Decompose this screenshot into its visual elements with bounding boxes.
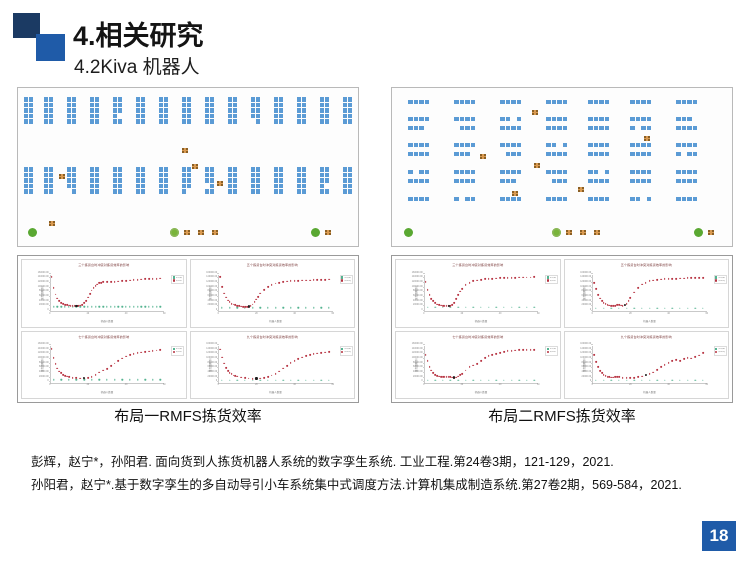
- legend-swatch: [715, 279, 717, 281]
- legend-swatch: [173, 351, 175, 353]
- data-point: [698, 277, 700, 279]
- storage-pod: [605, 179, 610, 183]
- data-point: [83, 306, 84, 307]
- data-point: [695, 379, 696, 380]
- storage-pod: [187, 178, 191, 183]
- data-point: [114, 306, 115, 307]
- storage-pod: [118, 184, 122, 189]
- storage-pod: [641, 170, 646, 174]
- data-point: [271, 284, 273, 286]
- storage-pod: [506, 197, 511, 201]
- reference-list: 彭辉，赵宁*，孙阳君. 面向货到人拣货机器人系统的数字孪生系统. 工业工程.第2…: [31, 452, 721, 497]
- storage-pod: [693, 152, 698, 156]
- data-point: [225, 297, 227, 299]
- storage-pod: [159, 119, 163, 124]
- data-point: [324, 279, 326, 281]
- legend-swatch: [173, 348, 175, 350]
- data-point: [321, 307, 322, 308]
- y-axis-label: 拣货周期(秒): [414, 358, 418, 372]
- storage-pod: [419, 126, 424, 130]
- storage-pod: [500, 126, 505, 130]
- robot-agent: [192, 164, 198, 169]
- storage-pod: [563, 170, 568, 174]
- storage-pod: [454, 179, 459, 183]
- storage-pod: [599, 143, 604, 147]
- storage-pod: [517, 170, 522, 174]
- x-axis-label: 机器人数量: [50, 319, 164, 323]
- storage-pod: [29, 167, 33, 172]
- storage-pod: [605, 126, 610, 130]
- storage-pod: [95, 184, 99, 189]
- storage-pod: [605, 197, 610, 201]
- data-point: [534, 379, 535, 380]
- page-title: 4.相关研究: [73, 14, 204, 53]
- data-point: [121, 357, 123, 359]
- data-point: [515, 277, 517, 279]
- data-point: [298, 307, 299, 308]
- storage-pod: [641, 126, 646, 130]
- storage-pod: [44, 119, 48, 124]
- storage-pod: [24, 167, 28, 172]
- data-point: [282, 307, 283, 308]
- data-point: [137, 279, 139, 281]
- data-point: [484, 357, 486, 359]
- data-point: [599, 298, 601, 300]
- storage-pod: [605, 143, 610, 147]
- storage-pod: [687, 179, 692, 183]
- x-axis-tick: 0: [423, 313, 424, 315]
- storage-pod: [693, 100, 698, 104]
- storage-pod: [676, 152, 681, 156]
- x-axis-tick: 20: [461, 313, 464, 315]
- storage-pod: [90, 189, 94, 194]
- storage-pod: [563, 100, 568, 104]
- storage-pod: [29, 178, 33, 183]
- storage-pod: [256, 173, 260, 178]
- data-point: [534, 349, 536, 351]
- chart-cell: 九个拣货台时冲突对拣货效率的影响020000.0040000.0060000.0…: [190, 331, 356, 400]
- storage-pod: [425, 117, 430, 121]
- storage-pod: [636, 152, 641, 156]
- storage-pod: [95, 114, 99, 119]
- storage-pod: [67, 114, 71, 119]
- data-point: [53, 379, 54, 380]
- data-point: [679, 360, 681, 362]
- storage-pod: [159, 108, 163, 113]
- data-point: [237, 379, 238, 380]
- data-point: [309, 279, 311, 281]
- storage-pod: [251, 103, 255, 108]
- data-point: [488, 379, 489, 380]
- storage-pod: [251, 178, 255, 183]
- data-point: [457, 307, 458, 308]
- storage-pod: [636, 179, 641, 183]
- x-axis-tick: 60: [705, 313, 708, 315]
- storage-pod: [210, 167, 214, 172]
- storage-pod: [113, 114, 117, 119]
- storage-pod: [67, 173, 71, 178]
- y-axis-tick: 120000.00: [38, 281, 49, 283]
- storage-pod: [599, 197, 604, 201]
- storage-pod: [136, 108, 140, 113]
- chart-legend: 无冲突理论值实际仿真值: [714, 346, 727, 356]
- robot-agent: [217, 181, 223, 186]
- y-axis-tick: 140000.00: [38, 276, 49, 278]
- storage-pod: [676, 179, 681, 183]
- y-axis-tick: 20000.00: [413, 304, 423, 306]
- storage-pod: [182, 114, 186, 119]
- chart-title: 五个拣货台时冲突对拣货效率的影响: [565, 262, 729, 267]
- storage-pod: [320, 189, 324, 194]
- storage-pod: [118, 119, 122, 124]
- storage-pod: [228, 108, 232, 113]
- data-point: [656, 279, 658, 281]
- storage-pod: [693, 197, 698, 201]
- storage-pod: [414, 100, 419, 104]
- y-axis: [218, 275, 219, 312]
- data-point: [221, 286, 223, 288]
- storage-pod: [348, 119, 352, 124]
- storage-pod: [274, 178, 278, 183]
- data-point: [99, 371, 101, 373]
- storage-pod: [302, 108, 306, 113]
- legend-swatch: [341, 351, 343, 353]
- data-point: [137, 306, 138, 307]
- data-point: [106, 368, 108, 370]
- storage-pod: [297, 103, 301, 108]
- x-axis-label: 机器人数量: [592, 390, 706, 394]
- storage-pod: [563, 143, 568, 147]
- data-point: [618, 379, 619, 380]
- chart-legend: 无冲突理论值实际仿真值: [340, 275, 353, 285]
- storage-pod: [676, 143, 681, 147]
- storage-pod: [500, 170, 505, 174]
- storage-pod: [348, 173, 352, 178]
- data-point: [290, 379, 291, 380]
- storage-pod: [228, 167, 232, 172]
- storage-pod: [557, 170, 562, 174]
- storage-pod: [419, 143, 424, 147]
- storage-pod: [164, 114, 168, 119]
- data-point: [425, 354, 427, 356]
- y-axis-tick: 20000.00: [413, 376, 423, 378]
- data-point: [252, 307, 253, 308]
- storage-pod: [647, 197, 652, 201]
- storage-pod: [320, 184, 324, 189]
- data-point: [473, 379, 474, 380]
- data-point: [229, 379, 230, 380]
- data-point: [695, 307, 696, 308]
- data-point: [515, 349, 517, 351]
- data-point: [102, 370, 104, 372]
- data-point: [114, 363, 116, 365]
- storage-pod: [274, 108, 278, 113]
- data-point: [622, 377, 624, 379]
- storage-pod: [641, 117, 646, 121]
- storage-pod: [159, 167, 163, 172]
- data-point: [313, 307, 314, 308]
- storage-pod: [113, 108, 117, 113]
- storage-pod: [605, 100, 610, 104]
- data-point: [435, 379, 436, 380]
- storage-pod: [141, 178, 145, 183]
- storage-pod: [67, 119, 71, 124]
- chart-title: 三个拣货台时冲突对拣货效率的影响: [396, 262, 560, 267]
- storage-pod: [49, 184, 53, 189]
- data-point: [278, 282, 280, 284]
- data-point: [99, 306, 100, 307]
- x-axis-tick: 60: [331, 313, 334, 315]
- data-point: [431, 370, 433, 372]
- storage-pod: [279, 178, 283, 183]
- data-point: [259, 377, 261, 379]
- data-point: [427, 379, 428, 380]
- data-point: [137, 352, 139, 354]
- data-point: [595, 379, 596, 380]
- storage-pod: [95, 103, 99, 108]
- y-axis-tick: 160000.00: [38, 343, 49, 345]
- data-point: [286, 365, 288, 367]
- data-point: [637, 376, 639, 378]
- data-point: [298, 280, 300, 282]
- y-axis-tick: 20000.00: [39, 304, 49, 306]
- storage-pod: [90, 114, 94, 119]
- data-point: [626, 377, 628, 379]
- storage-pod: [414, 152, 419, 156]
- storage-pod: [647, 152, 652, 156]
- data-point: [452, 304, 454, 306]
- chart-plot-area: 020000.0040000.0060000.0080000.00100000.…: [218, 346, 332, 383]
- data-point: [129, 379, 130, 380]
- storage-pod: [687, 126, 692, 130]
- storage-pod: [325, 178, 329, 183]
- data-point: [633, 291, 635, 293]
- x-axis-tick: 60: [537, 313, 540, 315]
- storage-pod: [274, 103, 278, 108]
- data-point: [282, 368, 284, 370]
- storage-pod: [563, 117, 568, 121]
- storage-pod: [297, 178, 301, 183]
- data-point: [91, 379, 92, 380]
- x-axis-tick: 0: [592, 384, 593, 386]
- reference-item: 彭辉，赵宁*，孙阳君. 面向货到人拣货机器人系统的数字孪生系统. 工业工程.第2…: [31, 452, 721, 473]
- storage-pod: [251, 184, 255, 189]
- data-point: [254, 301, 256, 303]
- caption-layout-2: 布局二RMFS拣货效率: [391, 407, 733, 427]
- data-point: [511, 277, 513, 279]
- x-axis-tick: 20: [629, 384, 632, 386]
- storage-pod: [419, 152, 424, 156]
- storage-pod: [343, 97, 347, 102]
- storage-pod: [182, 173, 186, 178]
- storage-pod: [95, 178, 99, 183]
- storage-pod: [205, 103, 209, 108]
- storage-pod: [67, 178, 71, 183]
- y-axis-tick: 0: [216, 309, 217, 311]
- storage-pod: [687, 143, 692, 147]
- storage-pod: [29, 184, 33, 189]
- y-axis-label: 拣货周期(秒): [40, 286, 44, 300]
- data-point: [260, 379, 261, 380]
- x-axis: [424, 383, 538, 384]
- storage-pod: [210, 178, 214, 183]
- data-point: [229, 307, 230, 308]
- robot-agent: [512, 191, 518, 196]
- data-point: [286, 281, 288, 283]
- data-point: [125, 280, 127, 282]
- chart-cell: 三个拣货台时冲突对拣货效率的影响020000.0040000.0060000.0…: [395, 259, 561, 328]
- storage-pod: [465, 100, 470, 104]
- storage-pod: [159, 97, 163, 102]
- storage-pod: [343, 167, 347, 172]
- storage-pod: [302, 173, 306, 178]
- chart-group-layout-2: 三个拣货台时冲突对拣货效率的影响020000.0040000.0060000.0…: [391, 255, 733, 403]
- data-point: [488, 307, 489, 308]
- storage-pod: [636, 100, 641, 104]
- data-point: [57, 298, 59, 300]
- robot-agent: [708, 230, 714, 235]
- data-point: [656, 307, 657, 308]
- storage-pod: [182, 103, 186, 108]
- storage-pod: [419, 117, 424, 121]
- storage-pod: [205, 119, 209, 124]
- storage-pod: [233, 167, 237, 172]
- data-point: [324, 351, 326, 353]
- storage-pod: [454, 197, 459, 201]
- storage-pod: [210, 189, 214, 194]
- data-point: [148, 278, 150, 280]
- storage-pod: [67, 184, 71, 189]
- storage-pod: [546, 152, 551, 156]
- data-point: [267, 379, 268, 380]
- legend-label: 实际仿真值: [344, 351, 351, 353]
- robot-agent: [49, 221, 55, 226]
- storage-pod: [44, 189, 48, 194]
- data-point: [114, 281, 116, 283]
- data-point: [152, 379, 153, 380]
- storage-pod: [320, 114, 324, 119]
- data-point: [144, 278, 146, 280]
- storage-pod: [465, 117, 470, 121]
- legend-entry: 实际仿真值: [341, 279, 351, 281]
- storage-pod: [182, 97, 186, 102]
- data-point: [530, 349, 532, 351]
- storage-pod: [500, 143, 505, 147]
- storage-pod: [95, 173, 99, 178]
- warehouse-canvas-1: [18, 88, 358, 246]
- data-point: [219, 276, 221, 278]
- data-point: [51, 348, 53, 350]
- storage-pod: [630, 117, 635, 121]
- storage-pod: [348, 167, 352, 172]
- x-axis-tick: 40: [293, 313, 296, 315]
- storage-pod: [136, 178, 140, 183]
- storage-pod: [676, 117, 681, 121]
- y-axis-tick: 160000.00: [206, 272, 217, 274]
- storage-pod: [279, 189, 283, 194]
- data-point: [702, 352, 704, 354]
- storage-pod: [90, 108, 94, 113]
- legend-entry: 无冲突理论值: [173, 348, 183, 350]
- storage-pod: [113, 173, 117, 178]
- storage-pod: [552, 100, 557, 104]
- storage-pod: [320, 103, 324, 108]
- data-point: [156, 306, 157, 307]
- page-subtitle: 4.2Kiva 机器人: [74, 52, 200, 79]
- chart-plot-area: 020000.0040000.0060000.0080000.00100000.…: [592, 346, 706, 383]
- storage-pod: [506, 126, 511, 130]
- storage-pod: [205, 108, 209, 113]
- page-number-badge: 18: [702, 521, 736, 551]
- y-axis-label: 拣货周期(秒): [40, 358, 44, 372]
- y-axis-label: 拣货周期(秒): [582, 286, 586, 300]
- storage-pod: [630, 197, 635, 201]
- legend-label: 实际仿真值: [550, 280, 557, 282]
- storage-pod: [320, 108, 324, 113]
- data-point: [298, 358, 300, 360]
- storage-pod: [251, 173, 255, 178]
- data-point: [526, 349, 528, 351]
- data-point: [668, 362, 670, 364]
- storage-pod: [630, 143, 635, 147]
- caption-layout-1: 布局一RMFS拣货效率: [17, 407, 359, 427]
- storage-pod: [557, 100, 562, 104]
- data-point: [511, 379, 512, 380]
- chart-title: 七个拣货台时冲突对拣货效率的影响: [396, 334, 560, 339]
- storage-pod: [647, 117, 652, 121]
- data-point: [645, 282, 647, 284]
- storage-pod: [636, 170, 641, 174]
- storage-pod: [72, 103, 76, 108]
- data-point: [499, 277, 501, 279]
- storage-pod: [517, 197, 522, 201]
- data-point: [156, 278, 158, 280]
- storage-pod: [552, 143, 557, 147]
- storage-pod: [113, 189, 117, 194]
- data-point: [53, 306, 54, 307]
- data-point: [634, 379, 635, 380]
- data-point: [679, 278, 681, 280]
- storage-pod: [599, 126, 604, 130]
- data-point: [637, 287, 639, 289]
- storage-pod: [687, 197, 692, 201]
- legend-swatch: [341, 348, 343, 350]
- data-point: [64, 306, 65, 307]
- storage-pod: [72, 119, 76, 124]
- storage-pod: [187, 119, 191, 124]
- data-point: [679, 307, 680, 308]
- storage-pod: [546, 117, 551, 121]
- storage-pod: [605, 152, 610, 156]
- storage-pod: [29, 103, 33, 108]
- storage-pod: [682, 143, 687, 147]
- data-point: [603, 379, 604, 380]
- y-axis-tick: 140000.00: [412, 348, 423, 350]
- storage-pod: [348, 108, 352, 113]
- data-point: [522, 277, 524, 279]
- storage-pod: [24, 114, 28, 119]
- storage-pod: [676, 100, 681, 104]
- robot-agent: [59, 174, 65, 179]
- storage-pod: [72, 173, 76, 178]
- data-point: [51, 276, 53, 278]
- data-point: [121, 280, 123, 282]
- data-point: [687, 307, 688, 308]
- x-axis: [424, 311, 538, 312]
- data-point: [271, 375, 273, 377]
- data-point: [672, 379, 673, 380]
- data-point: [275, 283, 277, 285]
